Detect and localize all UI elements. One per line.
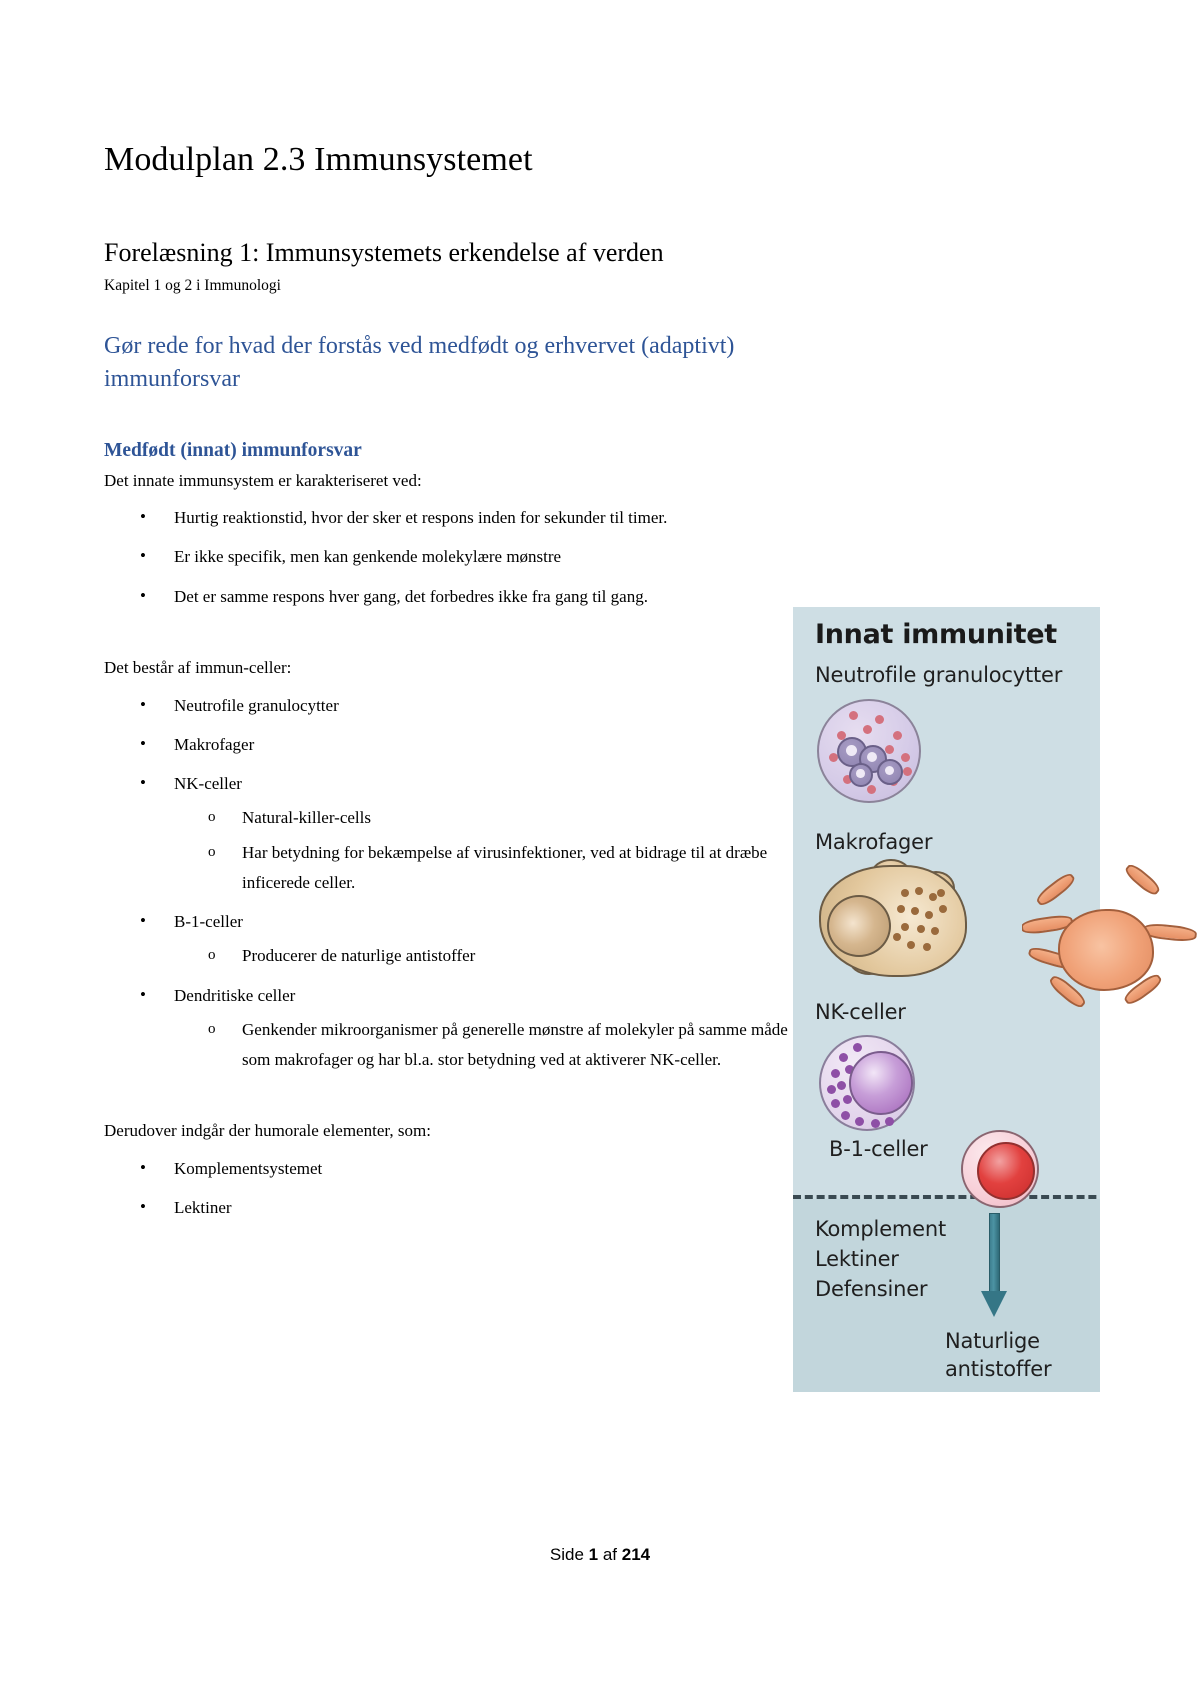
chapter-note: Kapitel 1 og 2 i Immunologi	[104, 276, 804, 296]
figure-label-lektiner: Lektiner	[815, 1245, 946, 1275]
list-item: Hurtig reaktionstid, hvor der sker et re…	[104, 503, 804, 533]
sub-list: Natural-killer-cells Har betydning for b…	[174, 803, 804, 898]
figure-label-komplement: Komplement	[815, 1215, 946, 1245]
neutrophil-illustration	[817, 699, 921, 803]
figure-label-defensiner: Defensiner	[815, 1275, 946, 1305]
immune-cells-list: Neutrofile granulocytter Makrofager NK-c…	[104, 691, 804, 1076]
intro-paragraph: Det innate immunsystem er karakteriseret…	[104, 469, 804, 494]
list-item: Makrofager	[104, 730, 804, 760]
list-item-label: Dendritiske celler	[174, 986, 295, 1005]
learning-objective-heading: Gør rede for hvad der forstås ved medfød…	[104, 330, 804, 395]
list-item: NK-celler Natural-killer-cells Har betyd…	[104, 769, 804, 898]
figure-label-b1-cells: B-1-celler	[829, 1137, 928, 1161]
section-heading-innate: Medfødt (innat) immunforsvar	[104, 439, 804, 463]
footer-prefix: Side	[550, 1545, 589, 1564]
sub-list-item: Natural-killer-cells	[174, 803, 804, 833]
macrophage-illustration	[819, 865, 967, 977]
document-content: Modulplan 2.3 Immunsystemet Forelæsning …	[104, 140, 804, 1233]
lecture-heading: Forelæsning 1: Immunsystemets erkendelse…	[104, 237, 804, 268]
figure-arrow-down	[981, 1213, 1007, 1319]
sub-list: Genkender mikroorganismer på generelle m…	[174, 1015, 804, 1076]
footer-page-number: 1	[589, 1545, 598, 1564]
figure-label-neutrophils: Neutrofile granulocytter	[815, 663, 1062, 687]
figure-label-naturlige: Naturlige	[945, 1327, 1051, 1355]
page-footer: Side 1 af 214	[0, 1545, 1200, 1565]
list-item: Er ikke specifik, men kan genkende molek…	[104, 542, 804, 572]
characteristics-list: Hurtig reaktionstid, hvor der sker et re…	[104, 503, 804, 612]
list-item-label: NK-celler	[174, 774, 242, 793]
list-item: B-1-celler Producerer de naturlige antis…	[104, 907, 804, 972]
sub-list-item: Har betydning for bekæmpelse af virusinf…	[174, 838, 804, 899]
humoral-intro-paragraph: Derudover indgår der humorale elementer,…	[104, 1119, 804, 1144]
list-item-label: B-1-celler	[174, 912, 243, 931]
figure-label-antistoffer: antistoffer	[945, 1355, 1051, 1383]
list-item: Neutrofile granulocytter	[104, 691, 804, 721]
list-item-label: Neutrofile granulocytter	[174, 696, 339, 715]
list-item: Det er samme respons hver gang, det forb…	[104, 582, 804, 612]
arrow-head-icon	[981, 1291, 1007, 1317]
figure-divider	[793, 1195, 1100, 1199]
figure-label-nk-cells: NK-celler	[815, 1000, 906, 1024]
figure-humoral-stack: Komplement Lektiner Defensiner	[815, 1215, 946, 1304]
sub-list-item: Producerer de naturlige antistoffer	[174, 941, 804, 971]
figure-title: Innat immunitet	[815, 619, 1057, 650]
sub-list: Producerer de naturlige antistoffer	[174, 941, 804, 971]
document-page: Modulplan 2.3 Immunsystemet Forelæsning …	[0, 0, 1200, 1698]
figure-label-natural-antibodies: Naturlige antistoffer	[945, 1327, 1051, 1384]
b1-cell-illustration	[961, 1130, 1039, 1208]
list-item: Lektiner	[104, 1193, 804, 1223]
footer-middle: af	[598, 1545, 622, 1564]
list-item: Dendritiske celler Genkender mikroorgani…	[104, 981, 804, 1076]
footer-total-pages: 214	[622, 1545, 650, 1564]
figure-label-macrophages: Makrofager	[815, 830, 932, 854]
page-title: Modulplan 2.3 Immunsystemet	[104, 140, 804, 179]
list-item: Komplementsystemet	[104, 1154, 804, 1184]
cells-intro-paragraph: Det består af immun-celler:	[104, 656, 804, 681]
arrow-shaft	[989, 1213, 1000, 1293]
list-item-label: Makrofager	[174, 735, 254, 754]
humoral-elements-list: Komplementsystemet Lektiner	[104, 1154, 804, 1224]
nk-cell-illustration	[819, 1035, 915, 1131]
dendritic-cell-illustration	[1022, 865, 1200, 1033]
sub-list-item: Genkender mikroorganismer på generelle m…	[174, 1015, 804, 1076]
